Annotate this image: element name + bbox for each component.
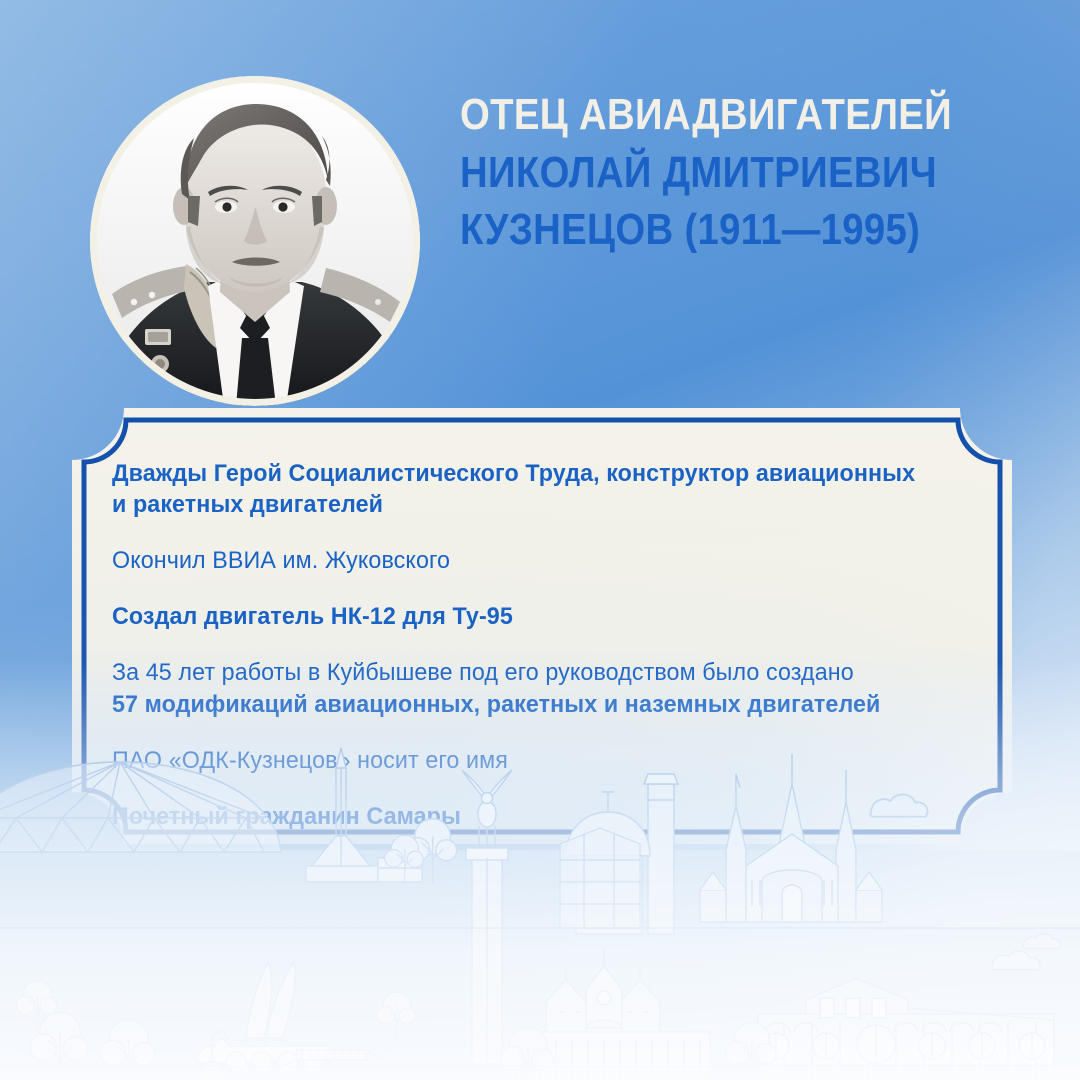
title-line-3: Кузнецов (1911—1995) — [460, 207, 973, 254]
fact-item: Создал двигатель НК-12 для Ту-95 — [112, 601, 972, 632]
portrait-photo — [90, 76, 420, 406]
fact-line: Почетный гражданин Самары — [112, 801, 929, 832]
fact-item: ПАО «ОДК-Кузнецов» носит его имя — [112, 745, 972, 776]
fact-line: ПАО «ОДК-Кузнецов» носит его имя — [112, 745, 929, 776]
fact-item: За 45 лет работы в Куйбышеве под его рук… — [112, 657, 972, 719]
title-line-2: Николай Дмитриевич — [460, 150, 973, 197]
fact-item: Окончил ВВИА им. Жуковского — [112, 545, 972, 576]
fact-line: Окончил ВВИА им. Жуковского — [112, 545, 929, 576]
historic-mansion — [516, 948, 710, 1080]
fact-line: За 45 лет работы в Куйбышеве под его рук… — [112, 657, 929, 688]
poster-root: Отец авиадвигателей Николай Дмитриевич К… — [0, 0, 1080, 1080]
fact-line: и ракетных двигателей — [112, 489, 929, 520]
fact-item: Дважды Герой Социалистического Труда, ко… — [112, 458, 972, 520]
info-card: Дважды Герой Социалистического Труда, ко… — [72, 408, 1012, 844]
fact-line: Создал двигатель НК-12 для Ту-95 — [112, 601, 929, 632]
title-line-1: Отец авиадвигателей — [460, 92, 973, 139]
avatar — [90, 76, 420, 406]
classical-building — [758, 978, 1054, 1080]
fact-line: Дважды Герой Социалистического Труда, ко… — [112, 458, 929, 489]
fact-item: Почетный гражданин Самары — [112, 801, 972, 832]
page-title: Отец авиадвигателей Николай Дмитриевич К… — [460, 92, 1050, 254]
card-content: Дважды Герой Социалистического Труда, ко… — [112, 458, 972, 832]
aircraft-monument — [196, 962, 388, 1080]
fact-line: 57 модификаций авиационных, ракетных и н… — [112, 689, 929, 720]
